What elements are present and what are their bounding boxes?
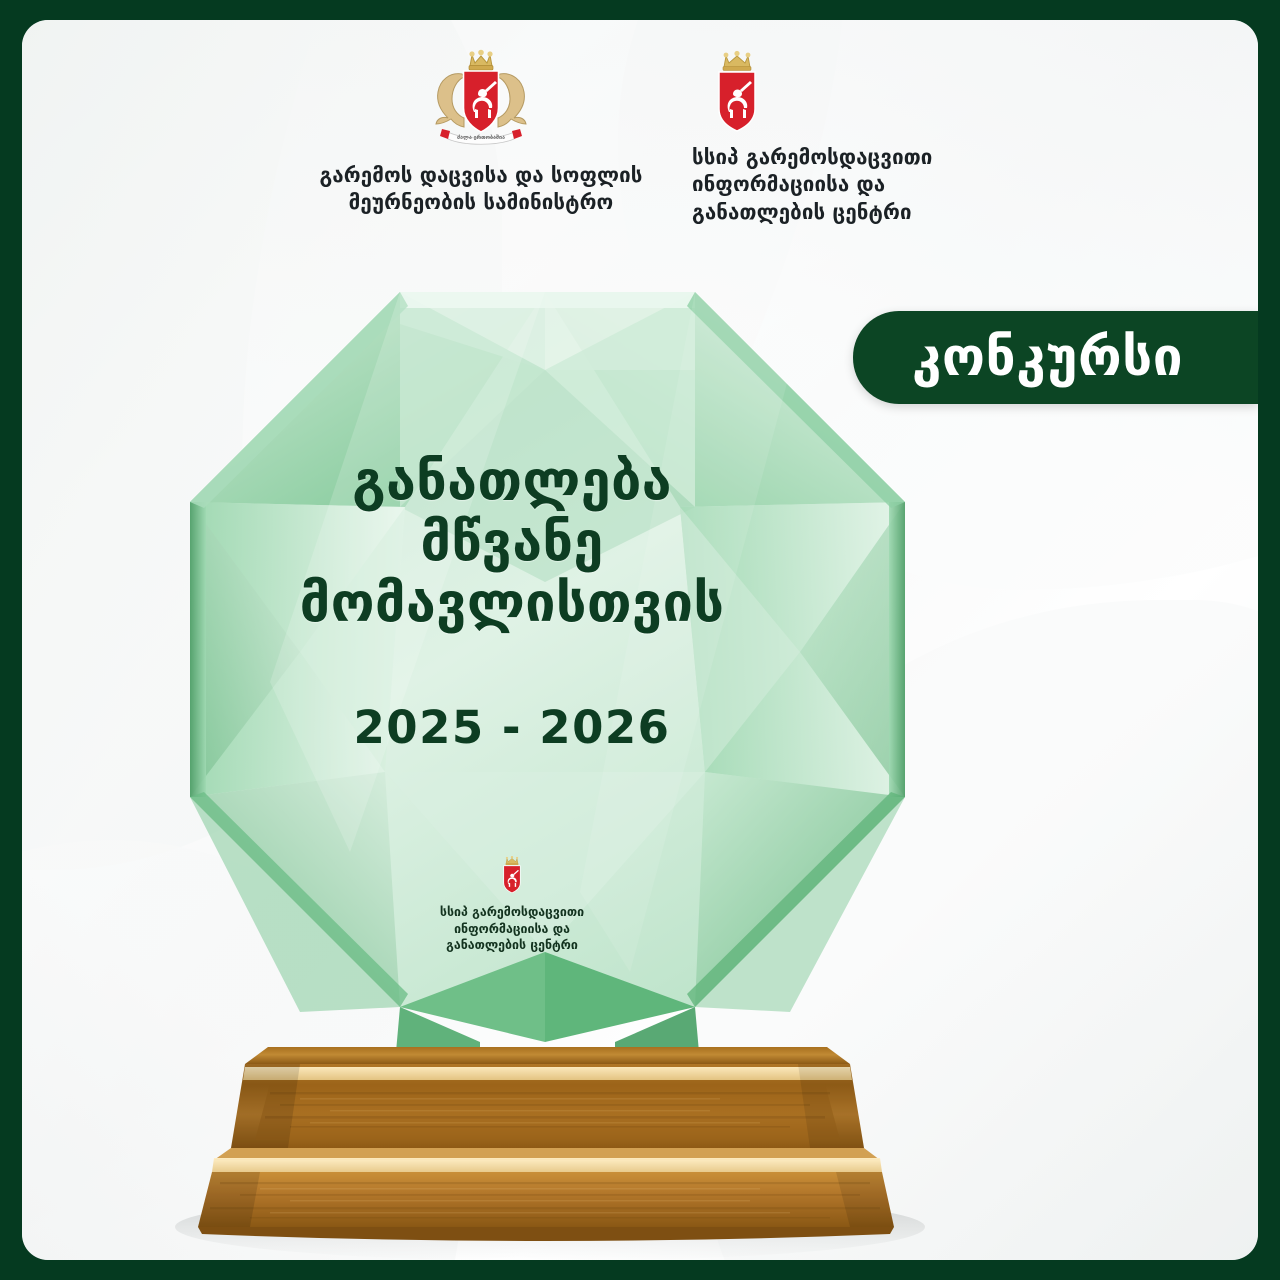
poster-root: ძალა ერთობაშია გარემოს დაცვისა და სოფლის… — [0, 0, 1280, 1280]
georgia-coat-of-arms-icon: ძალა ერთობაშია — [418, 46, 544, 154]
konkursi-ribbon: კონკურსი — [853, 311, 1258, 404]
konkursi-label: კონკურსი — [912, 327, 1199, 388]
svg-text:ძალა ერთობაშია: ძალა ერთობაშია — [457, 134, 505, 141]
ministry-block: ძალა ერთობაშია გარემოს დაცვისა და სოფლის… — [316, 46, 646, 217]
poster-panel: ძალა ერთობაშია გარემოს დაცვისა და სოფლის… — [22, 20, 1258, 1260]
center-name: სსიპ გარემოსდაცვითი ინფორმაციისა და განა… — [692, 144, 932, 226]
georgia-shield-crest-icon — [700, 48, 774, 136]
trophy-graphic — [150, 252, 940, 1260]
center-block: სსიპ გარემოსდაცვითი ინფორმაციისა და განა… — [692, 46, 964, 226]
ministry-name: გარემოს დაცვისა და სოფლის მეურნეობის სამ… — [319, 162, 642, 217]
header: ძალა ერთობაშია გარემოს დაცვისა და სოფლის… — [22, 46, 1258, 226]
